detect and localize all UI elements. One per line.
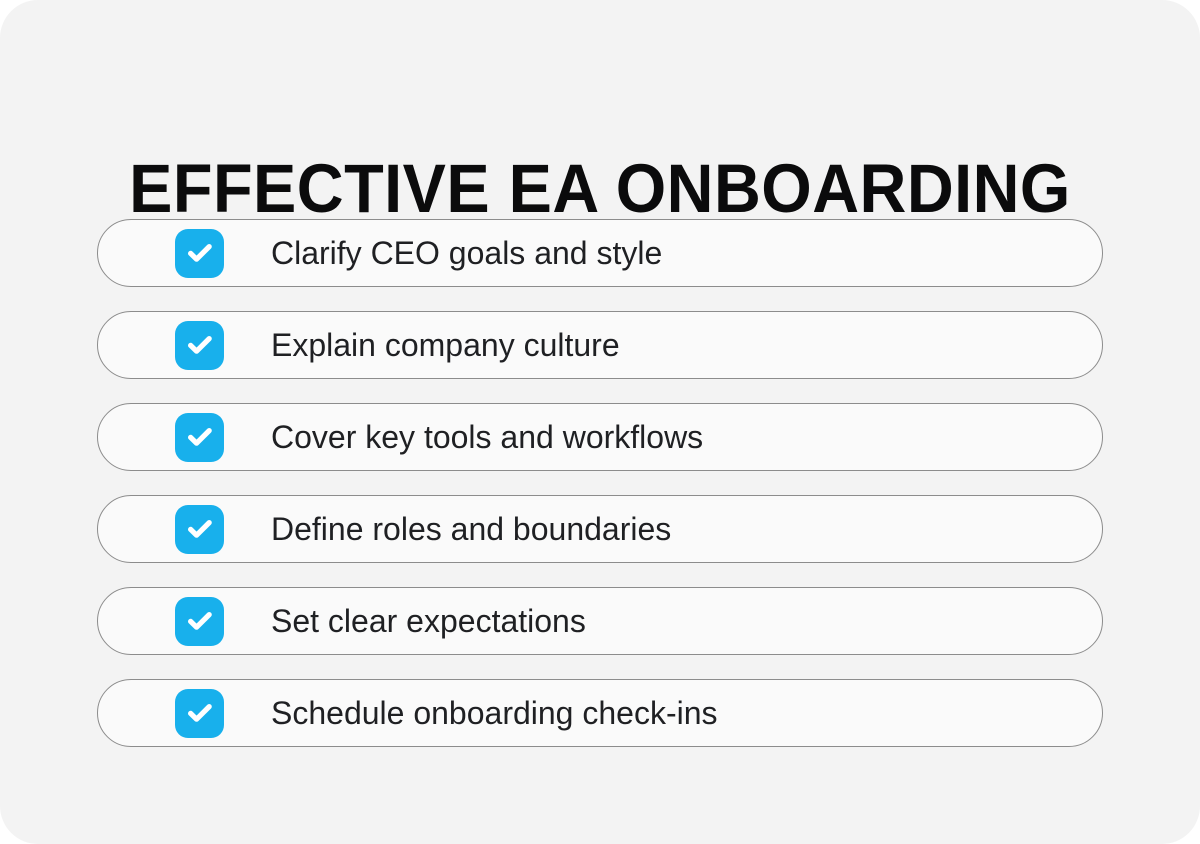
checklist-item-1[interactable]: Clarify CEO goals and style <box>97 219 1103 287</box>
checkmark-icon <box>185 514 215 544</box>
checkbox-checked-2[interactable] <box>175 321 224 370</box>
checklist-item-5[interactable]: Set clear expectations <box>97 587 1103 655</box>
checkbox-checked-1[interactable] <box>175 229 224 278</box>
page-title: EFFECTIVE EA ONBOARDING <box>36 150 1164 228</box>
checklist: Clarify CEO goals and style Explain comp… <box>97 219 1103 747</box>
checkbox-checked-5[interactable] <box>175 597 224 646</box>
checklist-item-label: Cover key tools and workflows <box>271 418 703 456</box>
checklist-item-label: Define roles and boundaries <box>271 510 671 548</box>
checklist-item-3[interactable]: Cover key tools and workflows <box>97 403 1103 471</box>
checkmark-icon <box>185 330 215 360</box>
checkbox-checked-6[interactable] <box>175 689 224 738</box>
checkmark-icon <box>185 606 215 636</box>
checkmark-icon <box>185 698 215 728</box>
checklist-item-label: Schedule onboarding check-ins <box>271 694 718 732</box>
checklist-item-2[interactable]: Explain company culture <box>97 311 1103 379</box>
checklist-item-6[interactable]: Schedule onboarding check-ins <box>97 679 1103 747</box>
onboarding-checklist-card: EFFECTIVE EA ONBOARDING Clarify CEO goal… <box>0 0 1200 844</box>
checkmark-icon <box>185 238 215 268</box>
checklist-item-label: Clarify CEO goals and style <box>271 234 662 272</box>
checklist-item-label: Explain company culture <box>271 326 620 364</box>
checklist-item-label: Set clear expectations <box>271 602 586 640</box>
checkmark-icon <box>185 422 215 452</box>
checklist-item-4[interactable]: Define roles and boundaries <box>97 495 1103 563</box>
checkbox-checked-3[interactable] <box>175 413 224 462</box>
checkbox-checked-4[interactable] <box>175 505 224 554</box>
